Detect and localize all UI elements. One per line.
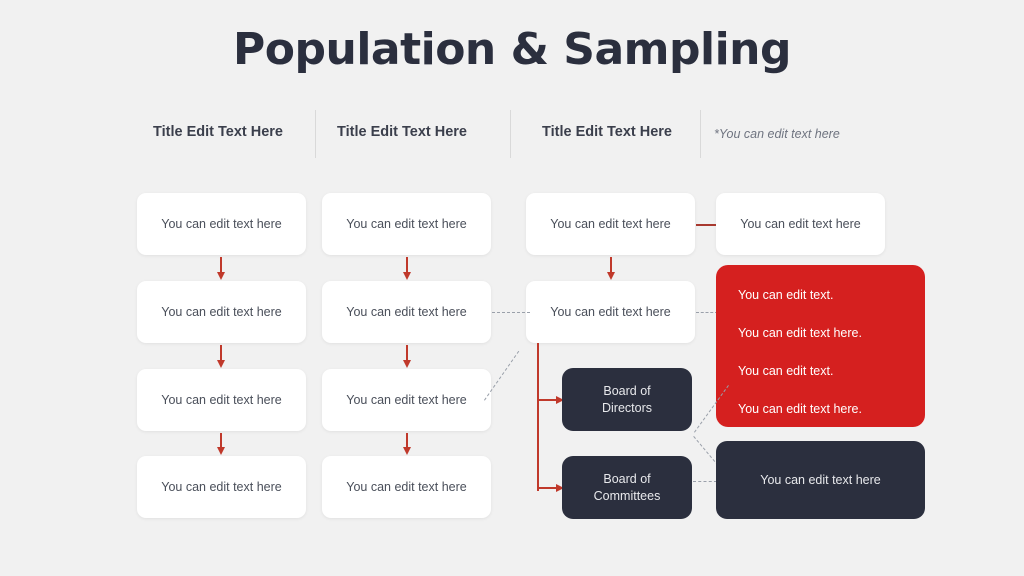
arrow-down-col2-2 bbox=[406, 345, 408, 361]
arrow-down-col1-1 bbox=[220, 257, 222, 273]
slide-canvas: Population & Sampling Title Edit Text He… bbox=[0, 0, 1024, 576]
card-label: You can edit text here bbox=[760, 472, 880, 489]
board-directors-line2: Directors bbox=[602, 400, 652, 417]
arrow-down-col2-1 bbox=[406, 257, 408, 273]
card-label: You can edit text here bbox=[346, 304, 466, 321]
card-col4-row1[interactable]: You can edit text here bbox=[716, 193, 885, 255]
connector-branch-to-committees bbox=[537, 487, 557, 489]
card-col3-row1[interactable]: You can edit text here bbox=[526, 193, 695, 255]
card-board-of-committees[interactable]: Board of Committees bbox=[562, 456, 692, 519]
card-col1-row1[interactable]: You can edit text here bbox=[137, 193, 306, 255]
card-label: You can edit text here bbox=[550, 216, 670, 233]
red-note-line-1: You can edit text. bbox=[738, 287, 903, 304]
card-label: You can edit text here bbox=[346, 479, 466, 496]
arrow-down-col2-3 bbox=[406, 433, 408, 448]
column-header-1: Title Edit Text Here bbox=[153, 124, 283, 140]
card-col2-row4[interactable]: You can edit text here bbox=[322, 456, 491, 518]
card-label: You can edit text here bbox=[161, 304, 281, 321]
red-note-line-4: You can edit text here. bbox=[738, 401, 903, 418]
dashed-connector-col3-to-red bbox=[696, 312, 718, 313]
connector-col3-to-col4 bbox=[696, 224, 716, 226]
card-col1-row2[interactable]: You can edit text here bbox=[137, 281, 306, 343]
card-label: You can edit text here bbox=[740, 216, 860, 233]
dashed-connector-committees-to-navy bbox=[693, 481, 717, 482]
card-col3-row2[interactable]: You can edit text here bbox=[526, 281, 695, 343]
card-red-notes[interactable]: You can edit text. You can edit text her… bbox=[716, 265, 925, 427]
card-label: You can edit text here bbox=[161, 216, 281, 233]
red-note-line-2: You can edit text here. bbox=[738, 325, 903, 342]
dashed-connector-col2-row2 bbox=[492, 312, 530, 313]
arrow-down-col3-1 bbox=[610, 257, 612, 273]
card-label: You can edit text here bbox=[161, 479, 281, 496]
card-label: You can edit text here bbox=[346, 216, 466, 233]
column-header-4-note: *You can edit text here bbox=[714, 127, 840, 141]
board-committees-line1: Board of bbox=[594, 471, 661, 488]
header-divider-1 bbox=[315, 110, 316, 158]
card-col1-row3[interactable]: You can edit text here bbox=[137, 369, 306, 431]
board-committees-line2: Committees bbox=[594, 488, 661, 505]
card-col1-row4[interactable]: You can edit text here bbox=[137, 456, 306, 518]
header-divider-3 bbox=[700, 110, 701, 158]
card-col2-row3[interactable]: You can edit text here bbox=[322, 369, 491, 431]
column-header-2: Title Edit Text Here bbox=[337, 124, 467, 140]
connector-branch-to-directors bbox=[537, 399, 557, 401]
card-board-of-directors[interactable]: Board of Directors bbox=[562, 368, 692, 431]
card-navy-bottom-right[interactable]: You can edit text here bbox=[716, 441, 925, 519]
card-label: You can edit text here bbox=[161, 392, 281, 409]
arrow-down-col1-2 bbox=[220, 345, 222, 361]
red-note-line-3: You can edit text. bbox=[738, 363, 903, 380]
board-directors-line1: Board of bbox=[602, 383, 652, 400]
arrow-down-col1-3 bbox=[220, 433, 222, 448]
card-col2-row1[interactable]: You can edit text here bbox=[322, 193, 491, 255]
card-label: You can edit text here bbox=[346, 392, 466, 409]
page-title: Population & Sampling bbox=[0, 24, 1024, 75]
column-header-3: Title Edit Text Here bbox=[542, 124, 672, 140]
card-col2-row2[interactable]: You can edit text here bbox=[322, 281, 491, 343]
card-label: You can edit text here bbox=[550, 304, 670, 321]
connector-trunk-vertical bbox=[537, 343, 539, 491]
header-divider-2 bbox=[510, 110, 511, 158]
